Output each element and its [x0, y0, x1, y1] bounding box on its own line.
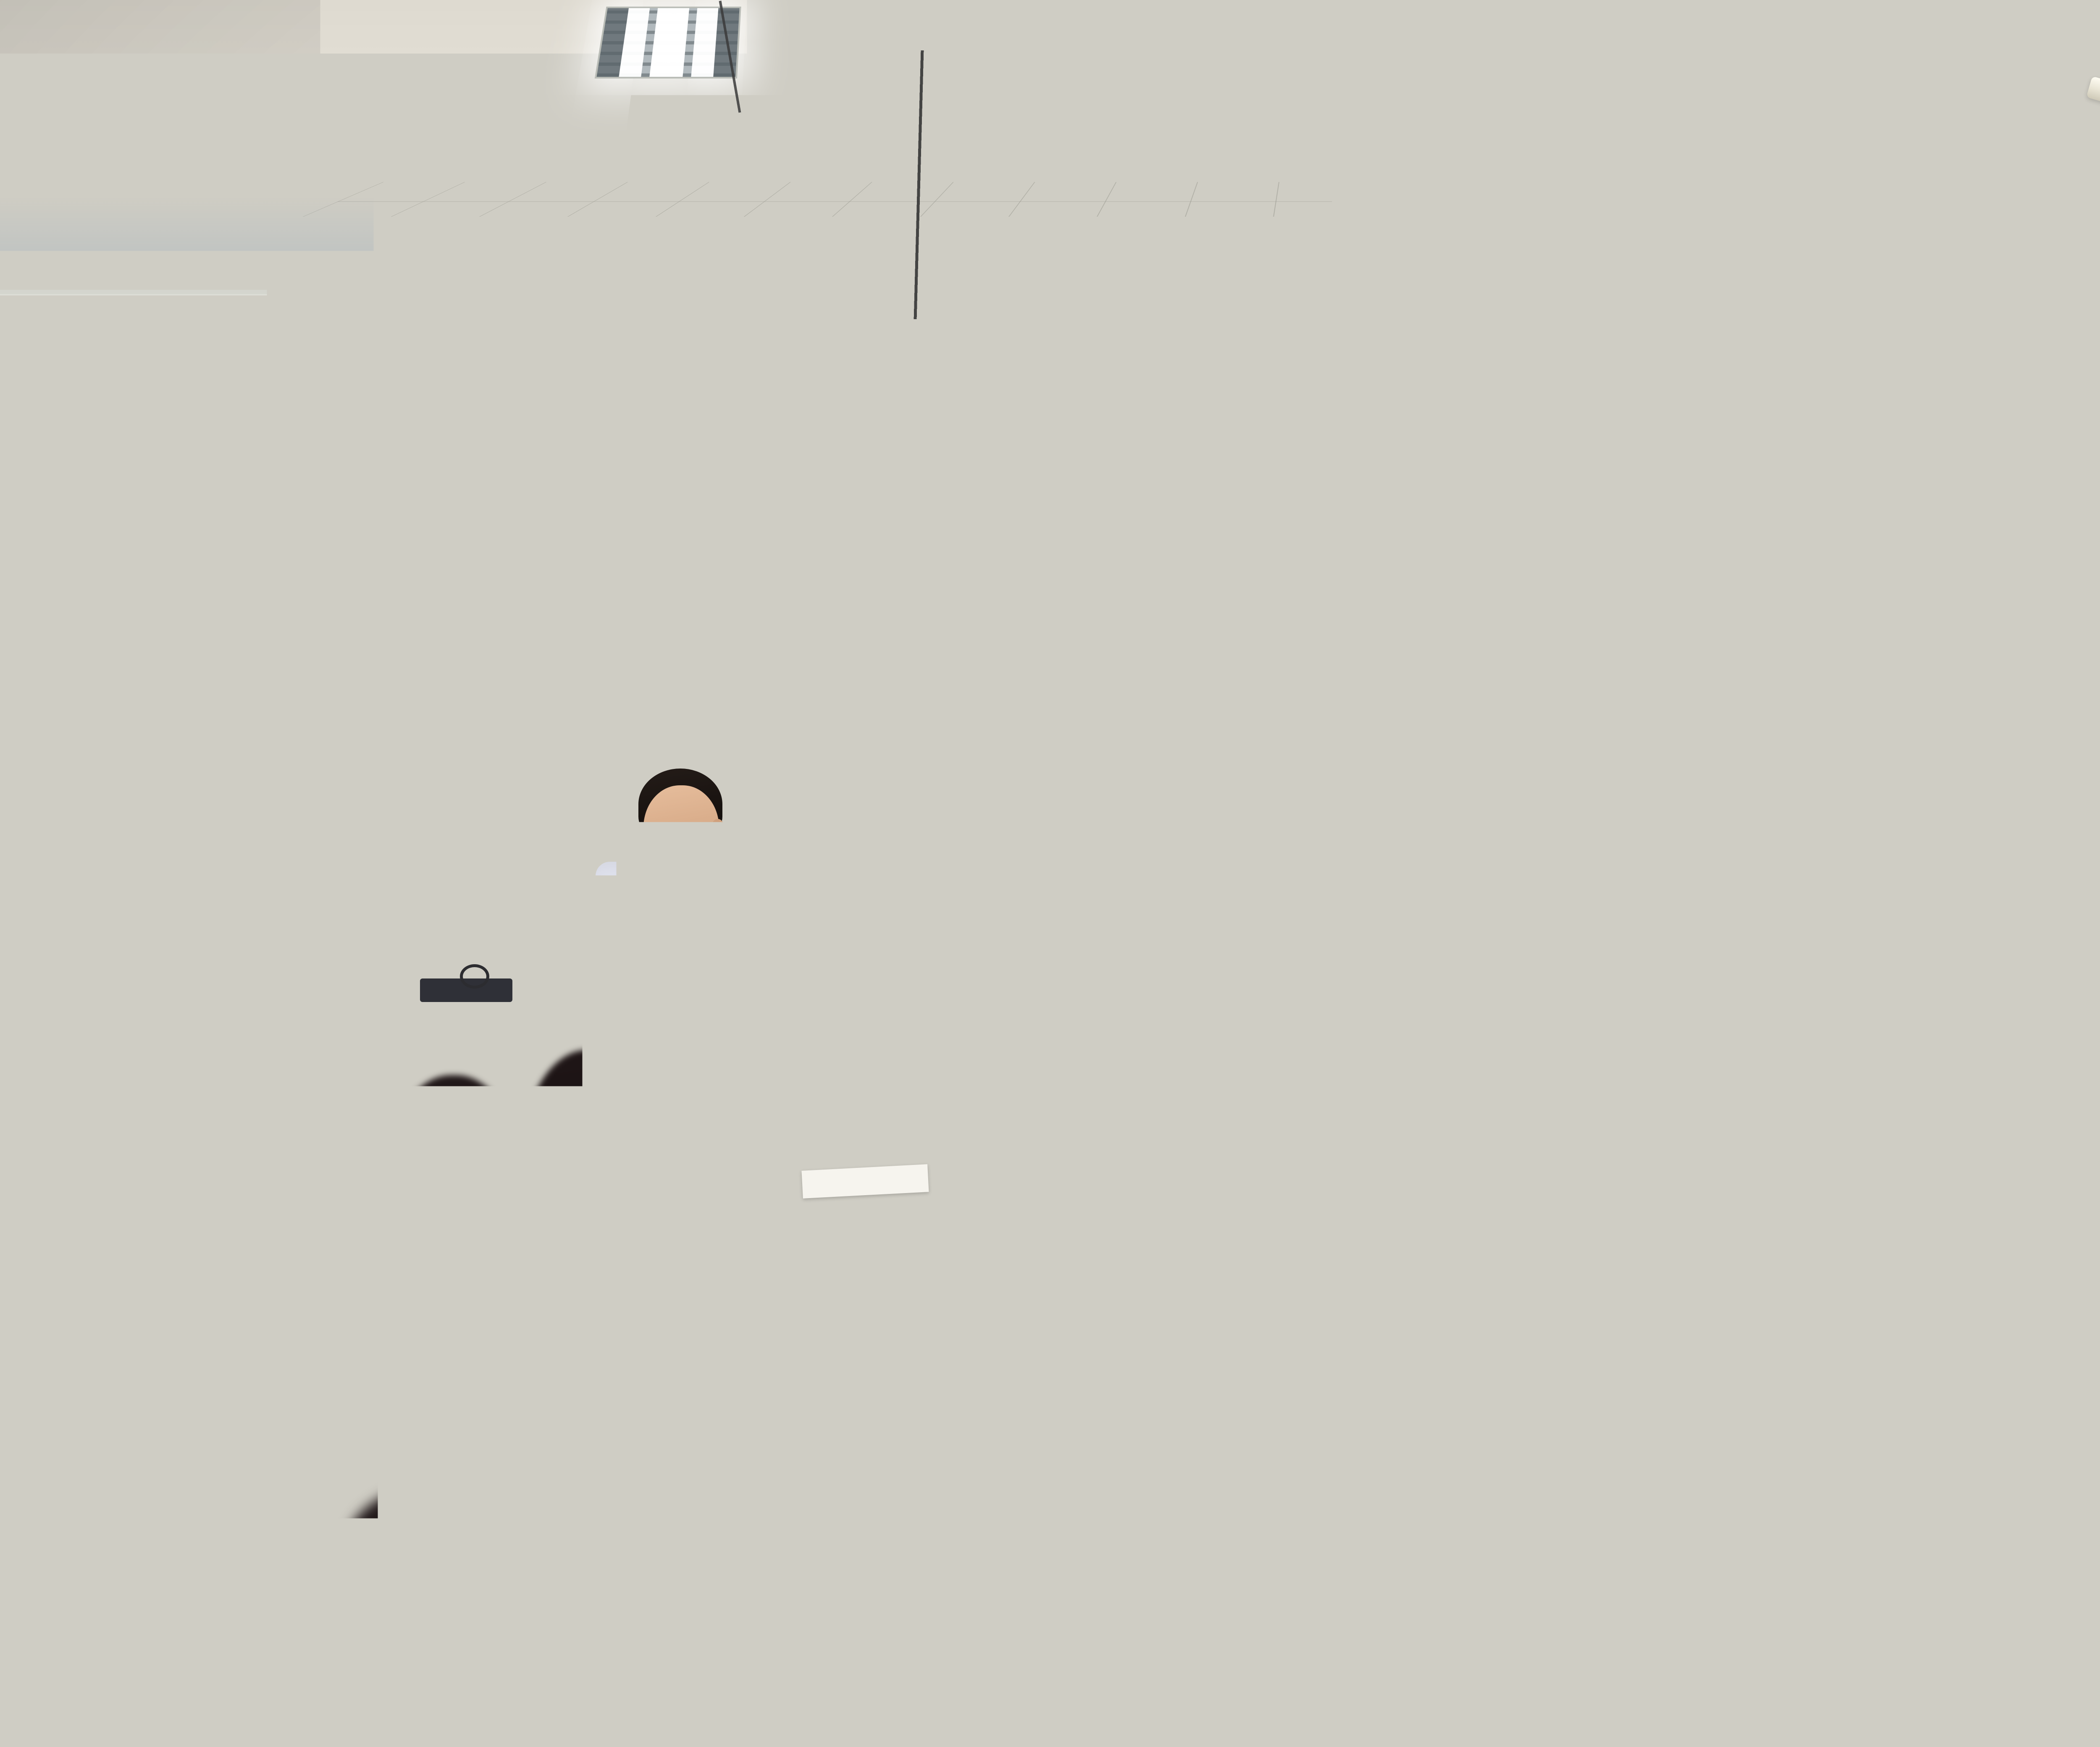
student-pink-top	[1726, 1440, 1961, 1747]
hair-scrunchie	[1642, 1411, 1718, 1474]
pendant-cap	[1860, 237, 1874, 254]
presenter-collar	[643, 862, 731, 894]
water-flask-purple	[817, 1235, 856, 1369]
wall-smudge	[176, 521, 210, 541]
student-hair	[685, 1495, 886, 1642]
projection-screen: 欢迎参加 数学建模培训 cumcm 中国大学生数学建模竞赛 09:36	[832, 338, 1873, 1099]
eyeglasses-icon	[1959, 1141, 2039, 1152]
slide-title: 欢迎参加 数学建模培训	[902, 455, 1608, 732]
student-hair	[1991, 1344, 2100, 1579]
projector-brand-label: THREELEAVES	[1804, 320, 1888, 333]
presenter-ear	[711, 819, 725, 842]
student	[622, 1495, 941, 1747]
wall-smudge	[542, 378, 580, 398]
student	[1050, 1041, 1243, 1369]
door-vision-panel-left	[66, 757, 113, 883]
flask-cap-white	[817, 1218, 856, 1243]
student	[235, 1482, 655, 1747]
presenter-head	[643, 785, 719, 873]
exit-sign-left: 安全出口 EXIT	[0, 616, 74, 668]
student-hair	[344, 1482, 542, 1617]
exit-sign-panel: 安全出口 EXIT	[0, 618, 72, 666]
light-louvers	[1571, 33, 1709, 111]
slide-title-line2: 数学建模培训	[902, 593, 1608, 731]
cable-coil	[460, 964, 489, 989]
door-left[interactable]	[19, 702, 255, 1168]
rear-cabinets	[395, 1008, 630, 1159]
student-torso	[622, 1621, 941, 1747]
bottle-cap	[435, 1178, 463, 1190]
student-face	[1961, 1096, 2066, 1218]
exit-sign-cn: 安全出口	[0, 618, 72, 653]
student-hair	[101, 1130, 239, 1348]
student-hair	[878, 1100, 1063, 1277]
cumcm-logo: cumcm 中国大学生数学建模竞赛	[913, 753, 1120, 1069]
ceiling-fan-left	[378, 0, 613, 176]
presentation-slide: 欢迎参加 数学建模培训 cumcm 中国大学生数学建模竞赛 09:36	[835, 342, 1870, 1095]
pendant-cap	[482, 233, 496, 249]
ceiling-light-fixture-left	[595, 7, 741, 79]
exit-sign-en: EXIT	[21, 653, 51, 666]
student-torso	[1054, 1125, 1239, 1361]
student-hair	[664, 1041, 790, 1264]
presenter-hand-left	[724, 969, 778, 1024]
slide-title-line1: 欢迎参加	[902, 455, 1608, 593]
pendant-cap	[881, 233, 895, 249]
student-torso	[1726, 1508, 1961, 1747]
student	[1940, 1344, 2100, 1747]
fan-blade	[2086, 76, 2100, 123]
light-louvers	[597, 8, 740, 77]
wall-smudge	[294, 445, 319, 460]
ceiling-fan-right	[2058, 0, 2100, 193]
backpack-on-chair	[315, 1096, 395, 1176]
student-hair	[1264, 1415, 1394, 1747]
slide-header-band	[835, 342, 1870, 398]
projector-brand: THREELEAVES	[1787, 320, 1888, 333]
student-green-jacket	[1168, 1415, 1487, 1747]
student-with-glasses	[1915, 1050, 2100, 1394]
fan-blade	[327, 90, 454, 126]
three-leaves-triangle-icon	[1787, 321, 1800, 332]
student-arm	[13, 1172, 92, 1272]
hair-tie-blue	[1462, 1144, 1491, 1155]
lecture-hall-photo: THREELEAVES	[0, 0, 2100, 1747]
slide-header-notch	[1616, 342, 1813, 398]
ceiling	[0, 0, 2100, 319]
chair-handle-slot	[336, 1068, 382, 1081]
ceiling-light-fixture-right	[1569, 32, 1711, 113]
cumcm-acronym: cumcm	[913, 930, 1120, 976]
